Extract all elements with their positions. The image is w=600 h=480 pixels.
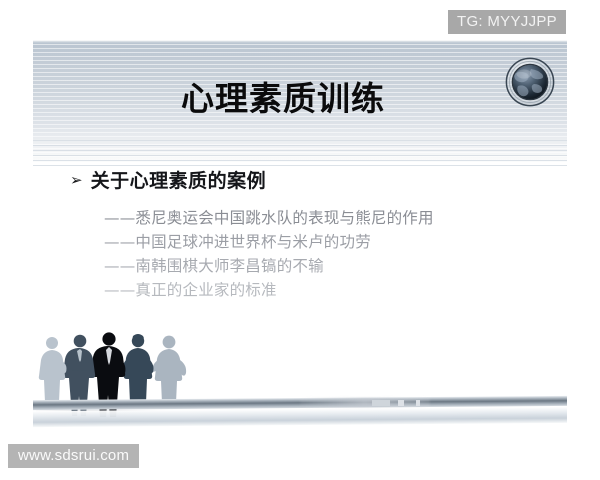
list-item: ——中国足球冲进世界杯与米卢的功劳 xyxy=(104,230,544,254)
rail-dash-accent xyxy=(416,400,420,406)
case-list: ——悉尼奥运会中国跳水队的表现与熊尼的作用 ——中国足球冲进世界杯与米卢的功劳 … xyxy=(104,206,544,302)
silhouette-person-1 xyxy=(39,337,67,402)
bullet-heading-label: 关于心理素质的案例 xyxy=(91,172,267,191)
silhouette-person-4 xyxy=(123,334,154,403)
rail-blur-accent xyxy=(300,398,430,407)
telegram-watermark: TG: MYYJJPP xyxy=(448,10,566,34)
list-item: ——悉尼奥运会中国跳水队的表现与熊尼的作用 xyxy=(104,206,544,230)
silhouette-person-5 xyxy=(153,336,187,403)
list-item: ——真正的企业家的标准 xyxy=(104,278,544,302)
bullet-heading-row: ➢ 关于心理素质的案例 xyxy=(70,172,266,191)
bullet-arrow-icon: ➢ xyxy=(70,173,83,188)
slide-title: 心理素质训练 xyxy=(33,82,533,115)
list-item: ——南韩围棋大师李昌镐的不输 xyxy=(104,254,544,278)
rail-dash-accent xyxy=(372,400,390,406)
rail-dash-accent xyxy=(398,400,404,406)
website-watermark: www.sdsrui.com xyxy=(8,444,139,468)
title-band-stripes xyxy=(33,140,567,170)
presentation-slide: 心理素质训练 ➢ 关于心理素质的案例 ——悉尼奥运会中国跳水队的表现与熊尼的作用… xyxy=(0,0,600,480)
